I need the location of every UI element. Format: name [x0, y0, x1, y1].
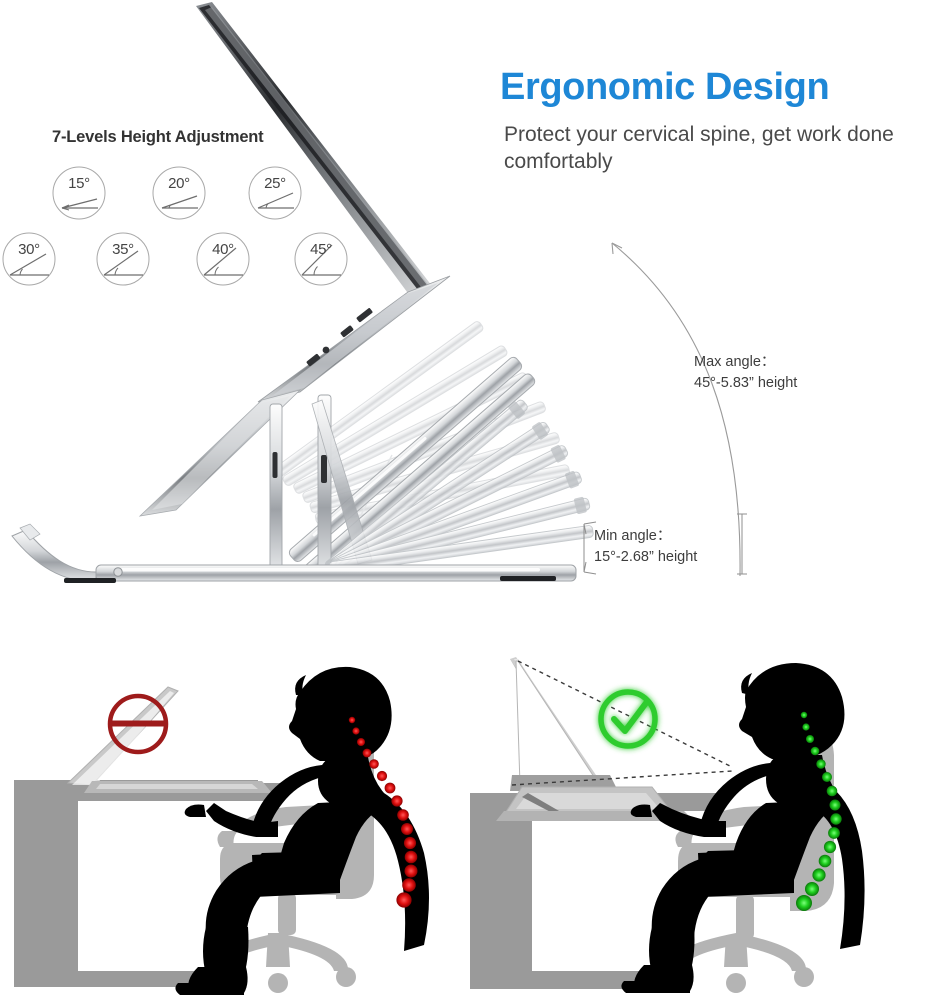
angle-badge-label: 25°	[248, 166, 302, 220]
max-angle-line2: 45°-5.83” height	[694, 373, 797, 394]
good-posture-panel	[470, 615, 930, 1000]
angle-badge-label: 30°	[2, 232, 56, 286]
angle-badge-label: 35°	[96, 232, 150, 286]
infographic-canvas: Ergonomic Design Protect your cervical s…	[0, 0, 930, 1000]
angle-badge-label: 15°	[52, 166, 106, 220]
laptop-flat	[68, 687, 272, 793]
headline-block: Ergonomic Design Protect your cervical s…	[500, 68, 920, 176]
page-title: Ergonomic Design	[500, 68, 920, 108]
prohibited-icon	[110, 696, 166, 752]
min-angle-line2: 15°-2.68” height	[594, 547, 697, 568]
check-circle-icon	[601, 692, 655, 746]
max-angle-line1: Max angle：	[694, 352, 797, 373]
angle-badge-30: 30°	[2, 232, 56, 286]
max-angle-callout: Max angle： 45°-5.83” height	[694, 352, 797, 394]
angle-badge-40: 40°	[196, 232, 250, 286]
min-angle-callout: Min angle： 15°-2.68” height	[594, 526, 697, 568]
angle-badge-45: 45°	[294, 232, 348, 286]
page-subtitle: Protect your cervical spine, get work do…	[504, 122, 920, 176]
angle-badge-35: 35°	[96, 232, 150, 286]
min-angle-line1: Min angle：	[594, 526, 697, 547]
angle-badge-label: 20°	[152, 166, 206, 220]
angle-badge-20: 20°	[152, 166, 206, 220]
angle-badge-label: 40°	[196, 232, 250, 286]
levels-heading: 7-Levels Height Adjustment	[52, 128, 263, 147]
bad-posture-panel	[0, 615, 470, 1000]
laptop	[196, 2, 450, 402]
angle-badge-25: 25°	[248, 166, 302, 220]
angle-badge-label: 45°	[294, 232, 348, 286]
angle-badge-15: 15°	[52, 166, 106, 220]
